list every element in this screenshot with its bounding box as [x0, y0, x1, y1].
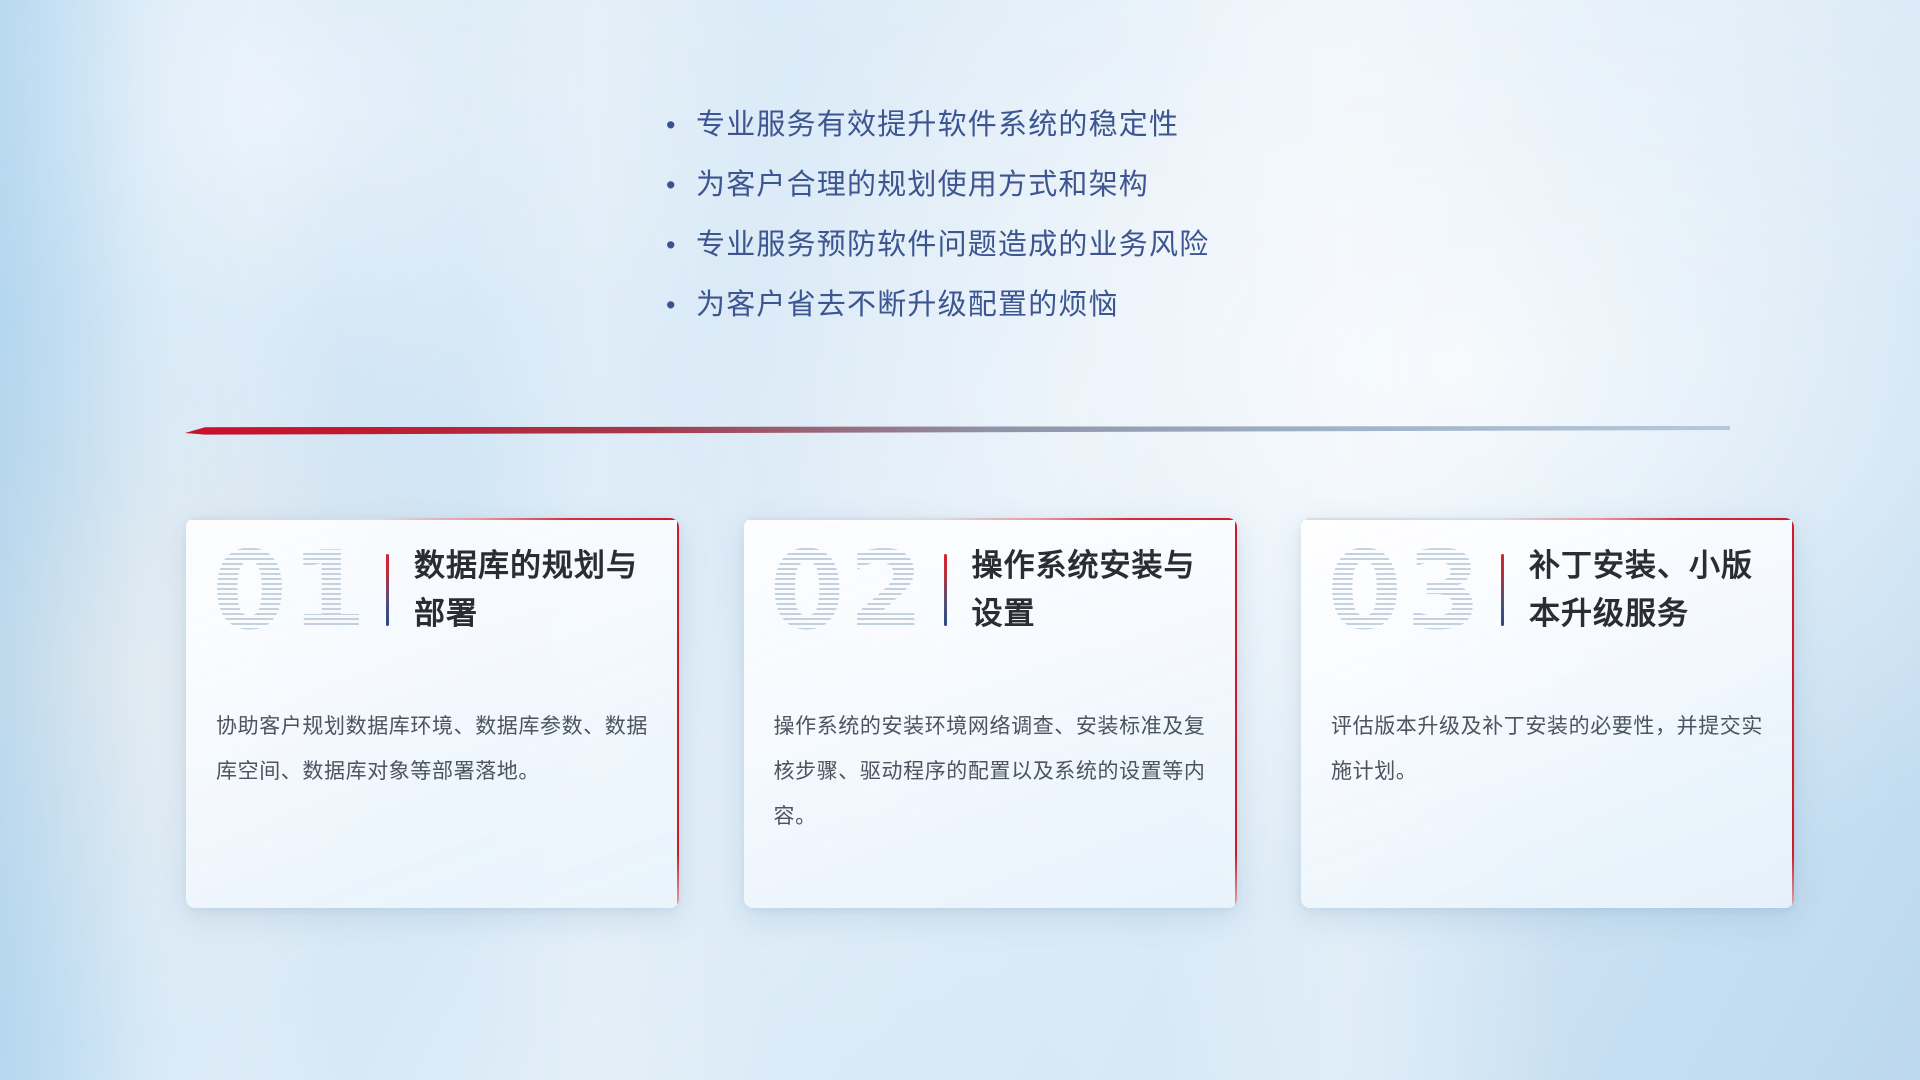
section-divider — [185, 425, 1730, 441]
feature-card[interactable]: 03 补丁安装、小版本升级服务 评估版本升级及补丁安装的必要性，并提交实施计划。 — [1301, 518, 1794, 908]
list-item: • 为客户省去不断升级配置的烦恼 — [660, 288, 1420, 322]
bullet-marker-icon: • — [660, 228, 696, 262]
card-title: 补丁安装、小版本升级服务 — [1529, 542, 1775, 638]
bullet-marker-icon: • — [660, 288, 696, 322]
card-description: 评估版本升级及补丁安装的必要性，并提交实施计划。 — [1331, 704, 1764, 794]
bullet-item-label: 为客户省去不断升级配置的烦恼 — [696, 288, 1119, 322]
bullet-list: • 专业服务有效提升软件系统的稳定性 • 为客户合理的规划使用方式和架构 • 专… — [660, 108, 1420, 348]
bullet-marker-icon: • — [660, 168, 696, 202]
card-title: 数据库的规划与部署 — [414, 542, 660, 638]
card-number-watermark: 02 — [770, 538, 928, 646]
list-item: • 为客户合理的规划使用方式和架构 — [660, 168, 1420, 202]
feature-card[interactable]: 01 数据库的规划与部署 协助客户规划数据库环境、数据库参数、数据库空间、数据库… — [186, 518, 679, 908]
card-header: 02 操作系统安装与设置 — [744, 518, 1237, 686]
bullet-item-label: 为客户合理的规划使用方式和架构 — [696, 168, 1149, 202]
feature-card[interactable]: 02 操作系统安装与设置 操作系统的安装环境网络调查、安装标准及复核步骤、驱动程… — [744, 518, 1237, 908]
card-accent-rule — [944, 554, 947, 626]
card-title: 操作系统安装与设置 — [972, 542, 1218, 638]
card-header: 01 数据库的规划与部署 — [186, 518, 679, 686]
card-number-watermark: 01 — [212, 538, 370, 646]
bullet-item-label: 专业服务预防软件问题造成的业务风险 — [696, 228, 1209, 262]
bullet-marker-icon: • — [660, 108, 696, 142]
slide-canvas: • 专业服务有效提升软件系统的稳定性 • 为客户合理的规划使用方式和架构 • 专… — [0, 0, 1920, 1080]
card-number-watermark: 03 — [1327, 538, 1485, 646]
card-header: 03 补丁安装、小版本升级服务 — [1301, 518, 1794, 686]
feature-card-row: 01 数据库的规划与部署 协助客户规划数据库环境、数据库参数、数据库空间、数据库… — [186, 518, 1794, 918]
bullet-item-label: 专业服务有效提升软件系统的稳定性 — [696, 108, 1179, 142]
card-accent-rule — [386, 554, 389, 626]
card-description: 协助客户规划数据库环境、数据库参数、数据库空间、数据库对象等部署落地。 — [216, 704, 649, 794]
list-item: • 专业服务预防软件问题造成的业务风险 — [660, 228, 1420, 262]
card-description: 操作系统的安装环境网络调查、安装标准及复核步骤、驱动程序的配置以及系统的设置等内… — [774, 704, 1207, 839]
card-accent-rule — [1501, 554, 1504, 626]
list-item: • 专业服务有效提升软件系统的稳定性 — [660, 108, 1420, 142]
